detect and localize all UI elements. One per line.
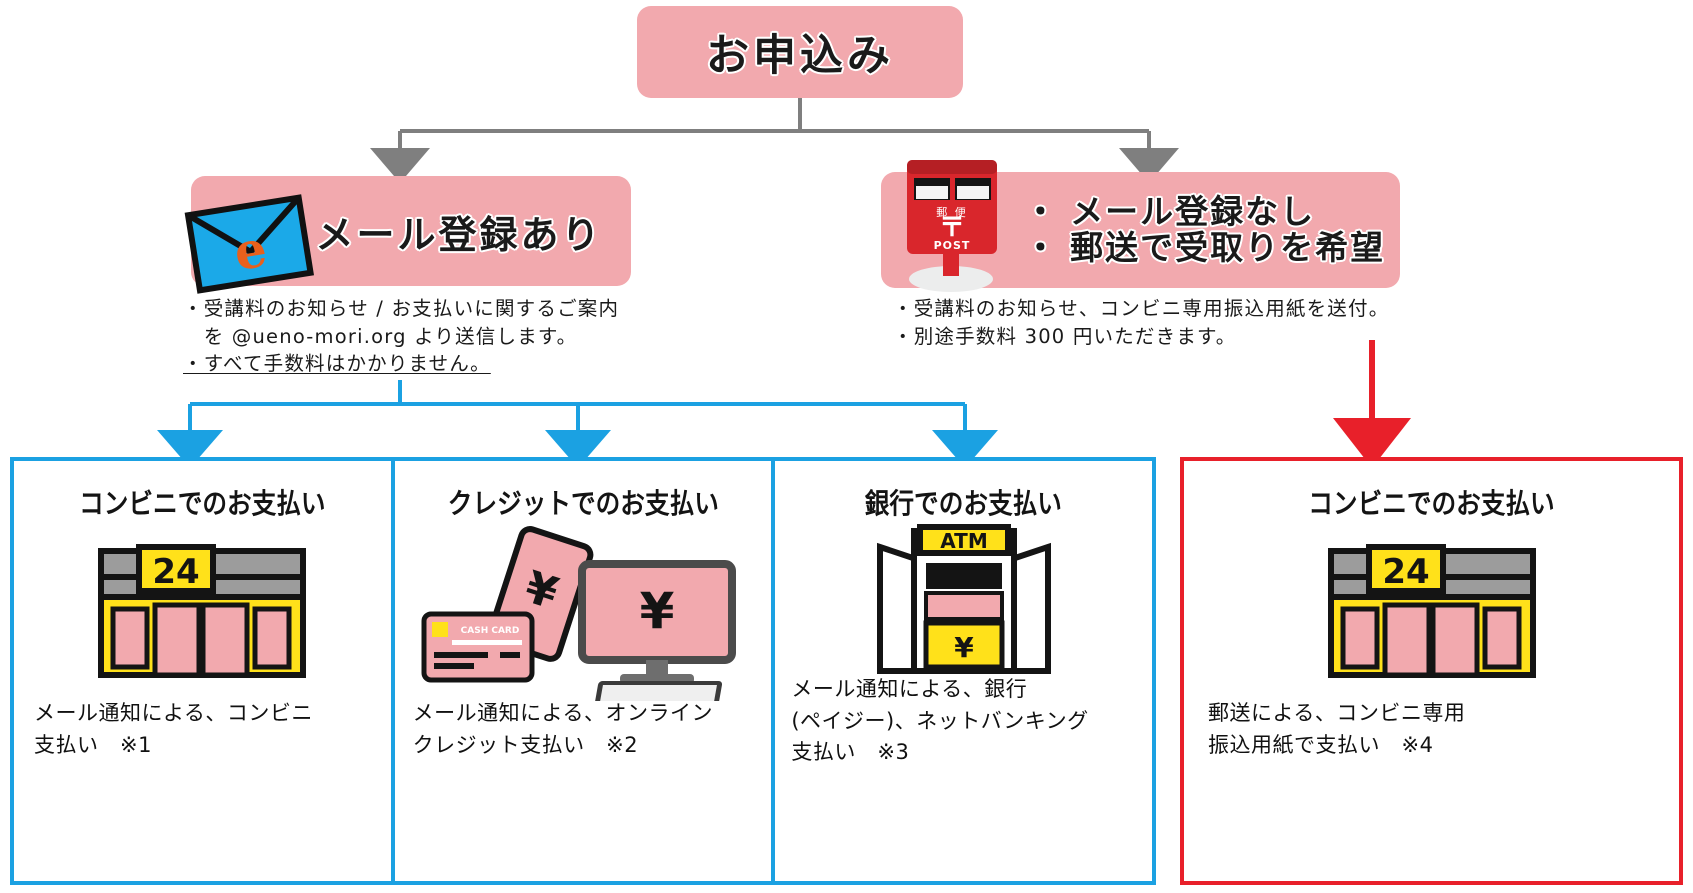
- node-application: お申込み: [637, 6, 963, 98]
- card-title: コンビニでのお支払い: [37, 482, 368, 522]
- card-postal-convenience-store[interactable]: コンビニでのお支払い 24 郵送による、コンビニ専用 振込用紙で支払い ※4: [1180, 457, 1683, 885]
- svg-text:24: 24: [1382, 552, 1429, 592]
- card-bank[interactable]: 銀行でのお支払い ATM ¥ メール通知による、銀行 (ペイジー)、ネットバンキ…: [771, 461, 1152, 881]
- payment-options-blue-group: コンビニでのお支払い 24 メール通知による、コンビニ 支払い ※1 クレジット…: [10, 457, 1156, 885]
- email-envelope-icon: e: [179, 190, 319, 294]
- japan-post-box-icon: 郵 便 〒 POST: [893, 148, 1013, 298]
- note-mail-registered: ・受講料のお知らせ / お支払いに関するご案内 を @ueno-mori.org…: [183, 295, 619, 378]
- node-application-label: お申込み: [706, 21, 894, 83]
- node-mail-registered: e メール登録あり: [191, 176, 631, 286]
- convenience-store-icon: 24: [14, 528, 391, 698]
- card-description: メール通知による、オンライン クレジット支払い ※2: [395, 698, 772, 761]
- svg-text:ATM: ATM: [940, 529, 987, 553]
- card-title: 銀行でのお支払い: [798, 482, 1129, 522]
- node-postal-request: 郵 便 〒 POST ・ メール登録なし ・ 郵送で受取りを希望: [881, 172, 1400, 288]
- card-title: クレジットでのお支払い: [417, 482, 748, 522]
- card-description: メール通知による、銀行 (ペイジー)、ネットバンキング 支払い ※3: [775, 674, 1152, 769]
- card-title: コンビニでのお支払い: [1214, 482, 1650, 522]
- svg-text:CASH CARD: CASH CARD: [461, 626, 520, 636]
- note-postal-request: ・受講料のお知らせ、コンビニ専用振込用紙を送付。 ・別途手数料 300 円いただ…: [893, 295, 1389, 350]
- postal-label-line-2: ・ 郵送で受取りを希望: [1024, 230, 1385, 266]
- note-line: ・受講料のお知らせ / お支払いに関するご案内: [183, 295, 619, 323]
- note-line-underlined: ・すべて手数料はかかりません。: [183, 350, 619, 378]
- node-postal-request-labels: ・ メール登録なし ・ 郵送で受取りを希望: [1024, 194, 1385, 265]
- note-line: を @ueno-mori.org より送信します。: [183, 323, 619, 351]
- card-convenience-store[interactable]: コンビニでのお支払い 24 メール通知による、コンビニ 支払い ※1: [14, 461, 391, 881]
- card-description: メール通知による、コンビニ 支払い ※1: [14, 698, 391, 761]
- node-mail-registered-label: メール登録あり: [315, 204, 602, 259]
- postal-label-line-1: ・ メール登録なし: [1024, 194, 1385, 230]
- note-line: ・受講料のお知らせ、コンビニ専用振込用紙を送付。: [893, 295, 1389, 323]
- svg-text:¥: ¥: [640, 582, 675, 640]
- svg-text:¥: ¥: [954, 631, 974, 664]
- atm-machine-icon: ATM ¥: [775, 528, 1152, 678]
- credit-card-phone-monitor-icon: ¥ CASH CARD ¥: [395, 528, 772, 698]
- note-line: ・別途手数料 300 円いただきます。: [893, 323, 1389, 351]
- card-description: 郵送による、コンビニ専用 振込用紙で支払い ※4: [1184, 698, 1679, 761]
- convenience-store-icon: 24: [1184, 528, 1679, 698]
- flowchart-canvas: お申込み e メール登録あり 郵 便 〒 POST: [0, 0, 1693, 893]
- svg-text:24: 24: [153, 552, 200, 592]
- card-credit[interactable]: クレジットでのお支払い ¥ CASH CARD: [391, 461, 772, 881]
- svg-text:POST: POST: [934, 239, 971, 252]
